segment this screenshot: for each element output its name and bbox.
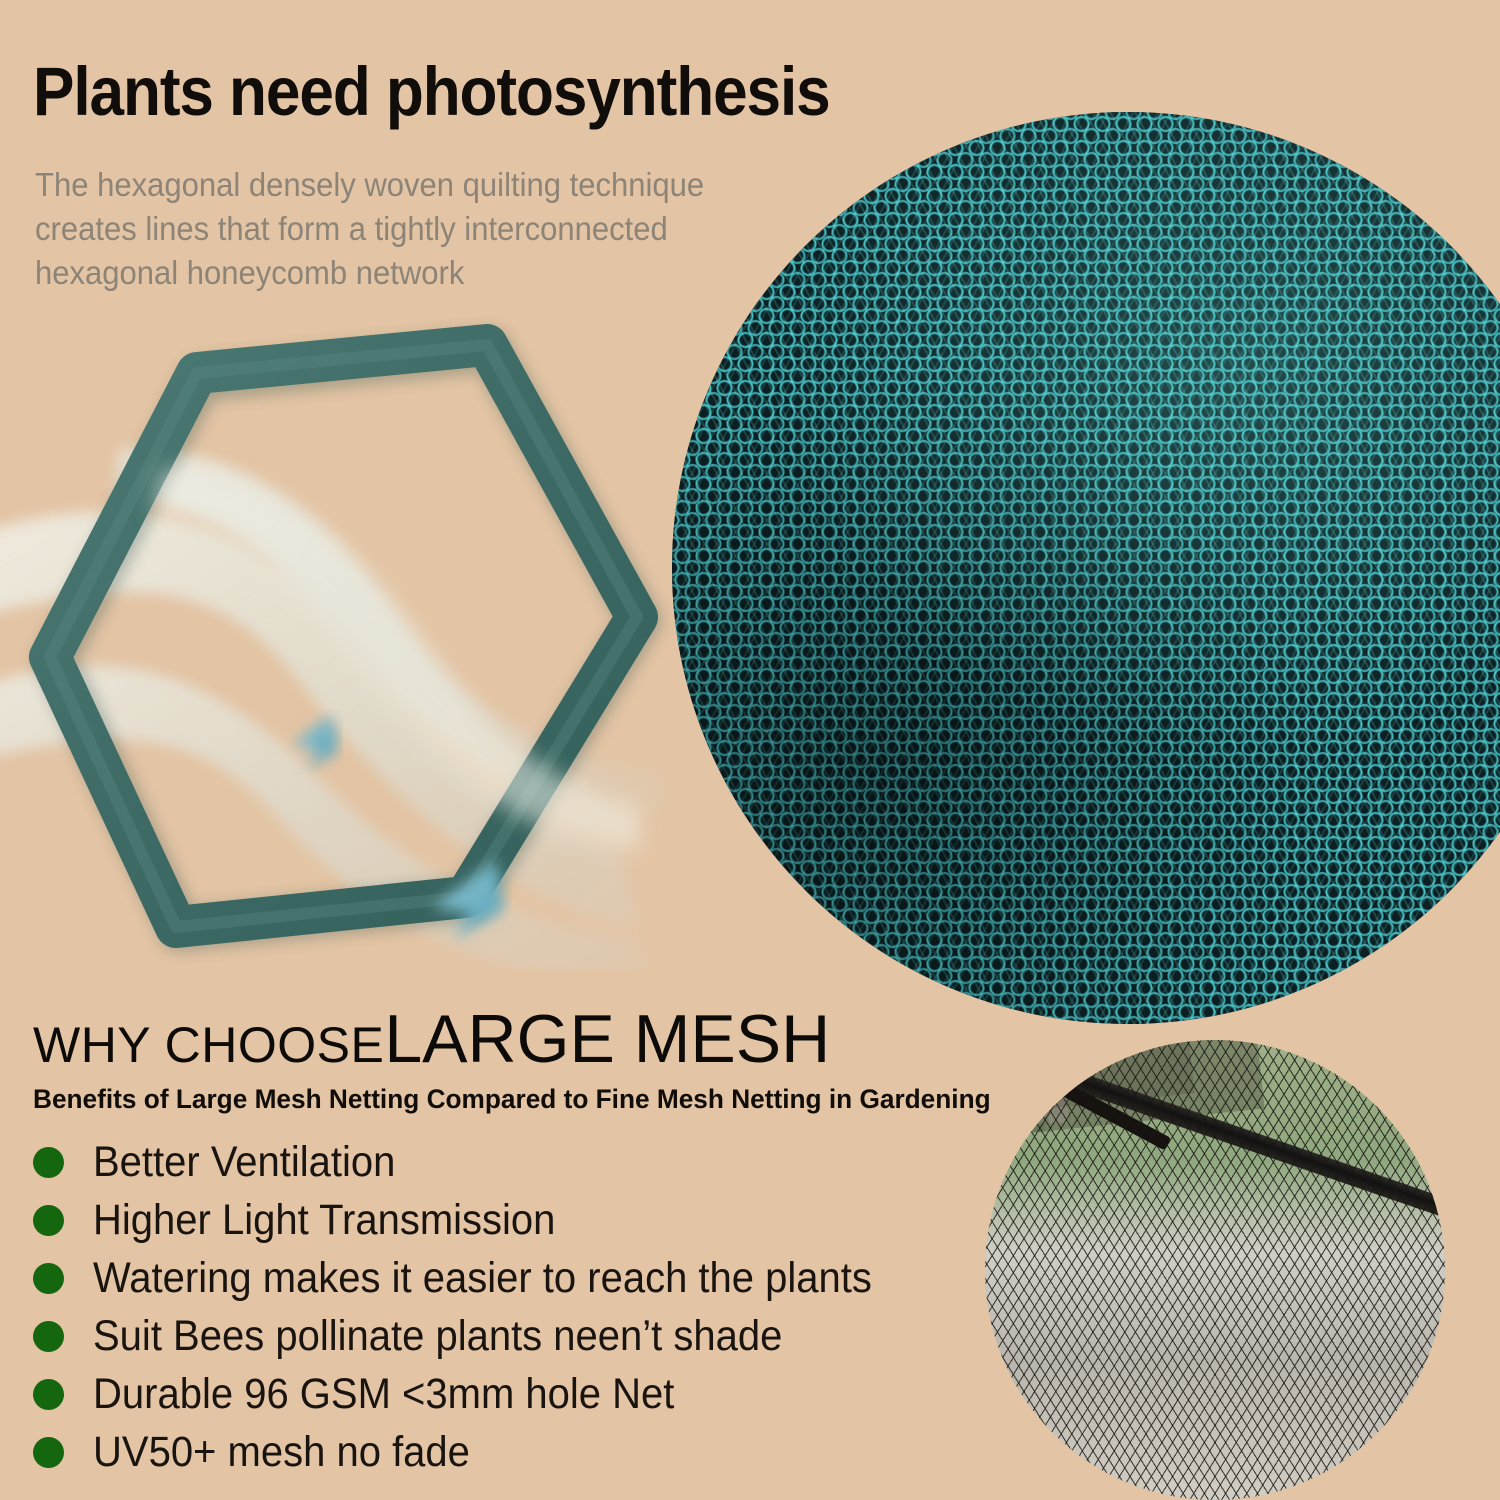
bullet-dot-icon xyxy=(33,1379,64,1410)
list-item-label: Better Ventilation xyxy=(93,1141,395,1183)
list-item-label: UV50+ mesh no fade xyxy=(93,1431,470,1473)
bullet-dot-icon xyxy=(33,1205,64,1236)
why-choose-heading-large: LARGE MESH xyxy=(384,1001,830,1077)
mesh-shading-overlay xyxy=(672,112,1500,1024)
hexagon-airflow-illustration xyxy=(0,290,700,970)
list-item-label: Watering makes it easier to reach the pl… xyxy=(93,1257,872,1299)
fine-mesh-netting-with-butterfly-photo xyxy=(985,1040,1445,1500)
bullet-dot-icon xyxy=(33,1437,64,1468)
list-item: Higher Light Transmission xyxy=(33,1191,953,1249)
list-item: UV50+ mesh no fade xyxy=(33,1423,953,1481)
list-item: Durable 96 GSM <3mm hole Net xyxy=(33,1365,953,1423)
page-title: Plants need photosynthesis xyxy=(33,57,830,126)
list-item: Watering makes it easier to reach the pl… xyxy=(33,1249,953,1307)
why-choose-heading: WHY CHOOSELARGE MESH xyxy=(33,1000,830,1078)
infographic-page: Plants need photosynthesis The hexagonal… xyxy=(0,0,1500,1500)
benefits-subheading: Benefits of Large Mesh Netting Compared … xyxy=(33,1084,991,1115)
benefits-list: Better Ventilation Higher Light Transmis… xyxy=(33,1133,953,1481)
photo-vignette xyxy=(985,1040,1445,1500)
page-subtitle: The hexagonal densely woven quilting tec… xyxy=(35,163,778,295)
list-item-label: Suit Bees pollinate plants neen’t shade xyxy=(93,1315,782,1357)
teal-mesh-closeup-image xyxy=(672,112,1500,1024)
list-item-label: Durable 96 GSM <3mm hole Net xyxy=(93,1373,674,1415)
bullet-dot-icon xyxy=(33,1147,64,1178)
list-item: Better Ventilation xyxy=(33,1133,953,1191)
list-item-label: Higher Light Transmission xyxy=(93,1199,555,1241)
bullet-dot-icon xyxy=(33,1321,64,1352)
bullet-dot-icon xyxy=(33,1263,64,1294)
why-choose-heading-small: WHY CHOOSE xyxy=(33,1017,384,1073)
list-item: Suit Bees pollinate plants neen’t shade xyxy=(33,1307,953,1365)
